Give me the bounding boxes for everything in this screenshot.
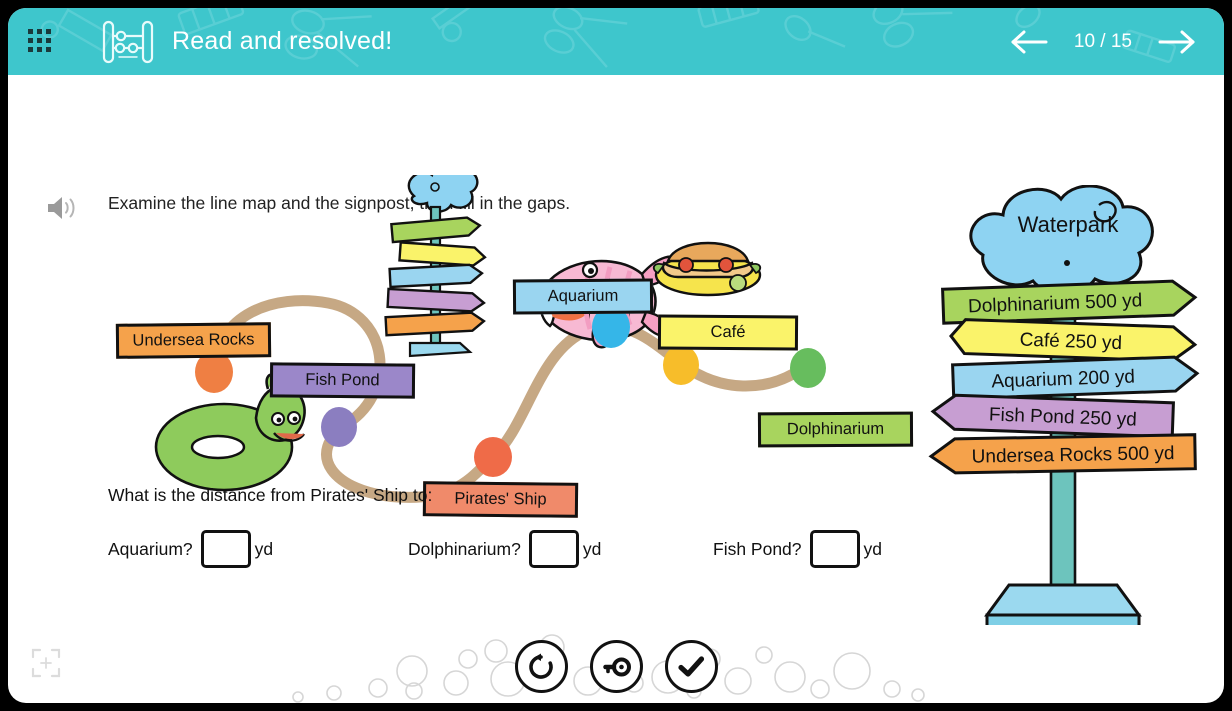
page-title: Read and resolved! — [172, 27, 392, 56]
sign-label: Undersea Rocks 500 yd — [972, 443, 1175, 468]
reset-button[interactable] — [515, 640, 568, 693]
sign-label: Café 250 yd — [1019, 329, 1122, 354]
answer-group-aquarium: Aquarium? yd — [108, 530, 408, 568]
answer-label: Fish Pond? — [713, 539, 802, 560]
answer-label: Dolphinarium? — [408, 539, 521, 560]
answer-unit: yd — [864, 539, 882, 560]
key-icon — [601, 652, 631, 682]
fish-pond-dot — [321, 407, 357, 447]
dolphinarium-dot — [790, 348, 826, 388]
signpost-base — [987, 585, 1139, 625]
map-label-undersea-rocks: Undersea Rocks — [116, 322, 271, 359]
app-header: Read and resolved! 10 / 15 — [8, 8, 1224, 75]
map-label-fish-pond: Fish Pond — [270, 362, 415, 398]
next-page-button[interactable] — [1154, 25, 1200, 59]
answer-fish-pond-input[interactable] — [810, 530, 860, 568]
map-label-cafe: Café — [658, 315, 798, 351]
mini-signpost-illustration — [386, 175, 486, 356]
waterpark-label: Waterpark — [1018, 212, 1120, 237]
map-label-dolphinarium: Dolphinarium — [758, 412, 913, 448]
answer-unit: yd — [583, 539, 601, 560]
map-label-text: Café — [710, 323, 745, 342]
sign-cafe: Café 250 yd — [950, 319, 1195, 361]
page-indicator: 10 / 15 — [1074, 31, 1132, 53]
action-buttons — [8, 640, 1224, 693]
question-prompt: What is the distance from Pirates' Ship … — [108, 485, 432, 506]
checkmark-icon — [676, 652, 706, 682]
sandwich-illustration — [654, 243, 761, 295]
map-label-text: Aquarium — [548, 287, 619, 306]
answer-unit: yd — [255, 539, 273, 560]
apps-grid-icon[interactable] — [28, 29, 54, 55]
sign-fish-pond: Fish Pond 250 yd — [932, 394, 1173, 436]
cafe-dot — [663, 345, 699, 385]
waterpark-cloud-sign: Waterpark — [971, 186, 1153, 293]
hint-button[interactable] — [590, 640, 643, 693]
map-label-text: Fish Pond — [305, 371, 379, 391]
speaker-icon[interactable] — [45, 193, 79, 223]
answer-aquarium-input[interactable] — [201, 530, 251, 568]
fullscreen-expand-icon[interactable] — [30, 647, 62, 679]
answer-group-dolphinarium: Dolphinarium? yd — [408, 530, 713, 568]
answer-row: Aquarium? yd Dolphinarium? yd Fish Pond?… — [108, 530, 882, 568]
sign-undersea-rocks: Undersea Rocks 500 yd — [931, 435, 1196, 474]
sign-aquarium: Aquarium 200 yd — [953, 356, 1198, 398]
abacus-icon — [100, 19, 156, 65]
line-map: Undersea Rocks Fish Pond Aquarium Café D… — [98, 175, 938, 535]
sign-dolphinarium: Dolphinarium 500 yd — [943, 280, 1196, 323]
map-label-aquarium: Aquarium — [513, 279, 653, 315]
map-label-text: Dolphinarium — [787, 420, 884, 440]
activity-window: Read and resolved! 10 / 15 Ex — [8, 8, 1224, 703]
activity-content: Examine the line map and the signpost, t… — [8, 75, 1224, 703]
answer-dolphinarium-input[interactable] — [529, 530, 579, 568]
prev-page-button[interactable] — [1006, 25, 1052, 59]
reset-arrow-icon — [526, 652, 556, 682]
map-label-text: Pirates' Ship — [454, 490, 546, 510]
pirates-ship-dot — [474, 437, 512, 477]
signpost-illustration: Waterpark Dolphinarium 500 yd Café 250 y… — [923, 185, 1213, 625]
map-label-pirates-ship: Pirates' Ship — [423, 481, 578, 518]
answer-label: Aquarium? — [108, 539, 193, 560]
map-label-text: Undersea Rocks — [132, 330, 254, 350]
answer-group-fish-pond: Fish Pond? yd — [713, 530, 882, 568]
check-button[interactable] — [665, 640, 718, 693]
